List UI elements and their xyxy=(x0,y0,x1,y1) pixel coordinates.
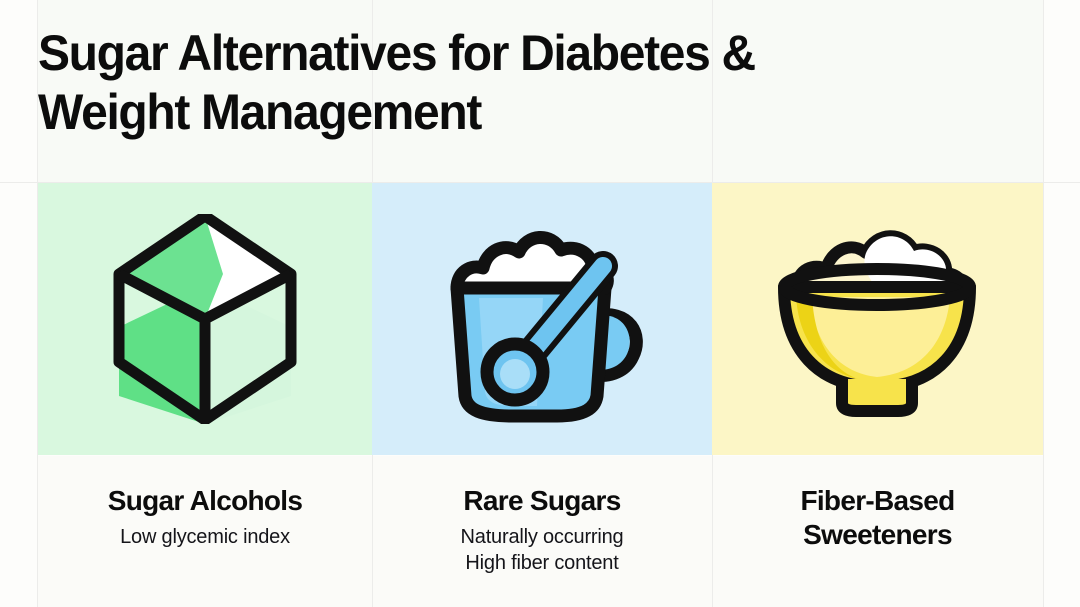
illustration-tile-sugar-alcohols xyxy=(38,183,372,455)
caption-title: Sugar Alcohols xyxy=(38,484,372,518)
caption-subtitle: Naturally occurring High fiber content xyxy=(372,525,712,576)
caption-row: Sugar Alcohols Low glycemic index Rare S… xyxy=(38,456,1043,607)
caption-rare-sugars: Rare Sugars Naturally occurring High fib… xyxy=(372,456,712,607)
bowl-of-powder-icon xyxy=(770,219,985,419)
mug-of-sugar-icon xyxy=(435,212,650,427)
illustration-tile-fiber-based-sweeteners xyxy=(712,183,1043,455)
caption-fiber-based-sweeteners: Fiber-Based Sweeteners xyxy=(712,456,1043,607)
caption-title: Rare Sugars xyxy=(372,484,712,518)
infographic-canvas: Sugar Alternatives for Diabetes & Weight… xyxy=(0,0,1080,607)
illustration-row xyxy=(38,183,1043,455)
caption-subtitle: Low glycemic index xyxy=(38,525,372,551)
page-title: Sugar Alternatives for Diabetes & Weight… xyxy=(38,24,902,141)
caption-title: Fiber-Based Sweeteners xyxy=(712,484,1043,552)
grid-line-vertical-right xyxy=(1043,0,1044,607)
illustration-tile-rare-sugars xyxy=(372,183,712,455)
sugar-cube-icon xyxy=(105,214,305,424)
caption-sugar-alcohols: Sugar Alcohols Low glycemic index xyxy=(38,456,372,607)
